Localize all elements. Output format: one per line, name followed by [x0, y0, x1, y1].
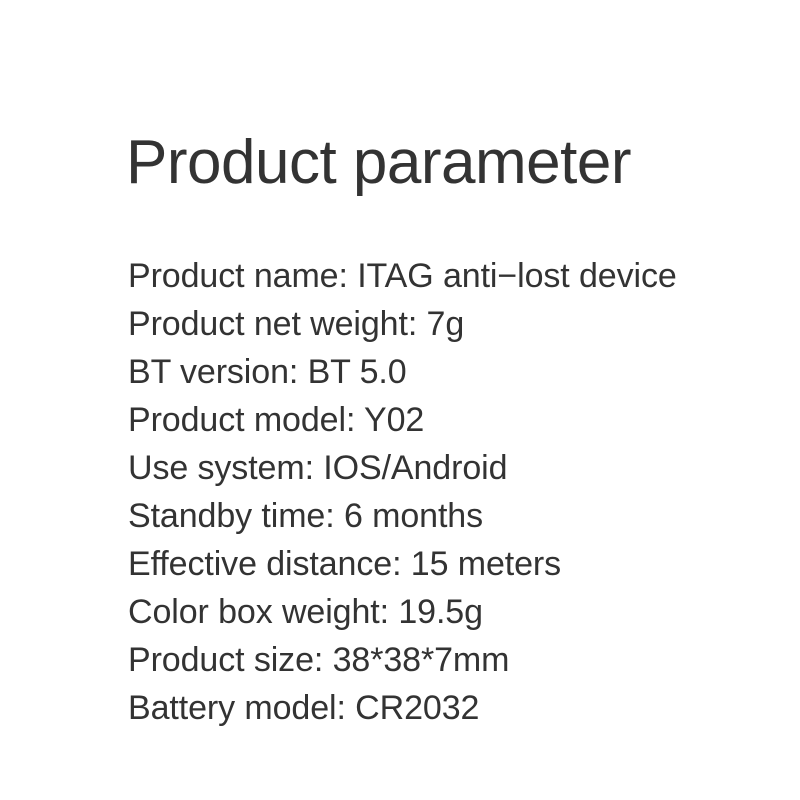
spec-separator: :: [336, 689, 355, 727]
list-item: Standby time: 6 months: [128, 492, 677, 540]
list-item: Product name: ITAG anti−lost device: [128, 252, 677, 300]
list-item: Use system: IOS/Android: [128, 444, 677, 492]
spec-value: 38*38*7mm: [333, 641, 510, 679]
spec-value: CR2032: [355, 689, 479, 727]
spec-label: Product size: [128, 641, 314, 679]
list-item: Effective distance: 15 meters: [128, 540, 677, 588]
list-item: Product size: 38*38*7mm: [128, 636, 677, 684]
spec-label: Use system: [128, 449, 305, 487]
spec-separator: :: [314, 641, 333, 679]
spec-value: IOS/Android: [323, 449, 507, 487]
spec-label: BT version: [128, 353, 289, 391]
spec-label: Standby time: [128, 497, 325, 535]
list-item: BT version: BT 5.0: [128, 348, 677, 396]
spec-value: ITAG anti−lost device: [357, 257, 676, 295]
page-title: Product parameter: [126, 132, 631, 194]
spec-separator: :: [408, 305, 427, 343]
spec-label: Effective distance: [128, 545, 392, 583]
spec-separator: :: [289, 353, 308, 391]
spec-value: Y02: [364, 401, 424, 439]
spec-value: 19.5g: [398, 593, 483, 631]
spec-separator: :: [325, 497, 344, 535]
spec-value: 15 meters: [411, 545, 561, 583]
spec-separator: :: [380, 593, 399, 631]
list-item: Color box weight: 19.5g: [128, 588, 677, 636]
spec-label: Product net weight: [128, 305, 408, 343]
spec-value: 7g: [427, 305, 465, 343]
spec-separator: :: [338, 257, 357, 295]
list-item: Product net weight: 7g: [128, 300, 677, 348]
spec-separator: :: [392, 545, 411, 583]
list-item: Product model: Y02: [128, 396, 677, 444]
spec-value: BT 5.0: [308, 353, 407, 391]
spec-separator: :: [305, 449, 324, 487]
spec-label: Battery model: [128, 689, 336, 727]
spec-value: 6 months: [344, 497, 483, 535]
spec-label: Color box weight: [128, 593, 380, 631]
spec-label: Product model: [128, 401, 346, 439]
list-item: Battery model: CR2032: [128, 684, 677, 732]
spec-list: Product name: ITAG anti−lost device Prod…: [128, 252, 677, 732]
spec-label: Product name: [128, 257, 338, 295]
product-parameter-card: Product parameter Product name: ITAG ant…: [0, 0, 800, 800]
spec-separator: :: [346, 401, 364, 439]
